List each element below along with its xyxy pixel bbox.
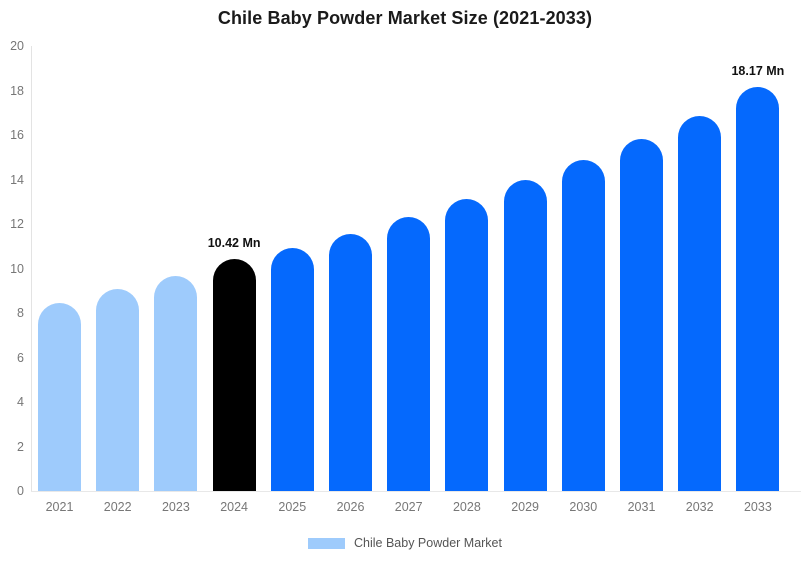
legend-swatch-icon [308, 538, 345, 549]
bar-2026[interactable] [329, 234, 372, 491]
y-axis-tick: 18 [0, 84, 24, 97]
x-axis-tick: 2033 [744, 500, 772, 514]
bar-2029[interactable] [504, 180, 547, 491]
y-axis-tick: 2 [0, 440, 24, 453]
bar-2031[interactable] [620, 139, 663, 491]
x-axis-tick: 2024 [220, 500, 248, 514]
x-axis-tick: 2026 [337, 500, 365, 514]
bar-2030[interactable] [562, 160, 605, 491]
y-axis-tick: 6 [0, 351, 24, 364]
bar-2032[interactable] [678, 116, 721, 491]
x-axis-tick: 2031 [628, 500, 656, 514]
x-axis-tick: 2023 [162, 500, 190, 514]
bars-layer: 10.42 Mn18.17 Mn [31, 46, 801, 491]
y-axis-tick: 0 [0, 485, 24, 498]
bar-2022[interactable] [96, 289, 139, 491]
x-axis-tick: 2030 [569, 500, 597, 514]
x-axis-tick: 2025 [278, 500, 306, 514]
x-axis-tick: 2022 [104, 500, 132, 514]
legend-label: Chile Baby Powder Market [354, 536, 502, 550]
bar-value-label-2024: 10.42 Mn [208, 236, 261, 250]
x-axis-line [31, 491, 801, 492]
bar-2023[interactable] [154, 276, 197, 491]
y-axis-tick: 4 [0, 396, 24, 409]
y-axis-tick: 16 [0, 129, 24, 142]
x-axis-tick-labels: 2021202220232024202520262027202820292030… [31, 500, 801, 518]
bar-value-label-2033: 18.17 Mn [731, 64, 784, 78]
x-axis-tick: 2029 [511, 500, 539, 514]
plot-area: 10.42 Mn18.17 Mn [31, 46, 801, 491]
y-axis-tick-labels: 02468101214161820 [0, 46, 24, 491]
bar-2033[interactable] [736, 87, 779, 491]
x-axis-tick: 2032 [686, 500, 714, 514]
bar-chart: Chile Baby Powder Market Size (2021-2033… [0, 0, 810, 562]
bar-2027[interactable] [387, 217, 430, 491]
y-axis-tick: 10 [0, 262, 24, 275]
chart-title: Chile Baby Powder Market Size (2021-2033… [0, 8, 810, 29]
x-axis-tick: 2021 [46, 500, 74, 514]
x-axis-tick: 2028 [453, 500, 481, 514]
bar-2025[interactable] [271, 248, 314, 491]
y-axis-tick: 20 [0, 40, 24, 53]
bar-2028[interactable] [445, 199, 488, 491]
chart-legend: Chile Baby Powder Market [0, 536, 810, 550]
y-axis-tick: 14 [0, 173, 24, 186]
bar-2024[interactable] [213, 259, 256, 491]
bar-2021[interactable] [38, 303, 81, 491]
y-axis-tick: 8 [0, 307, 24, 320]
x-axis-tick: 2027 [395, 500, 423, 514]
y-axis-tick: 12 [0, 218, 24, 231]
